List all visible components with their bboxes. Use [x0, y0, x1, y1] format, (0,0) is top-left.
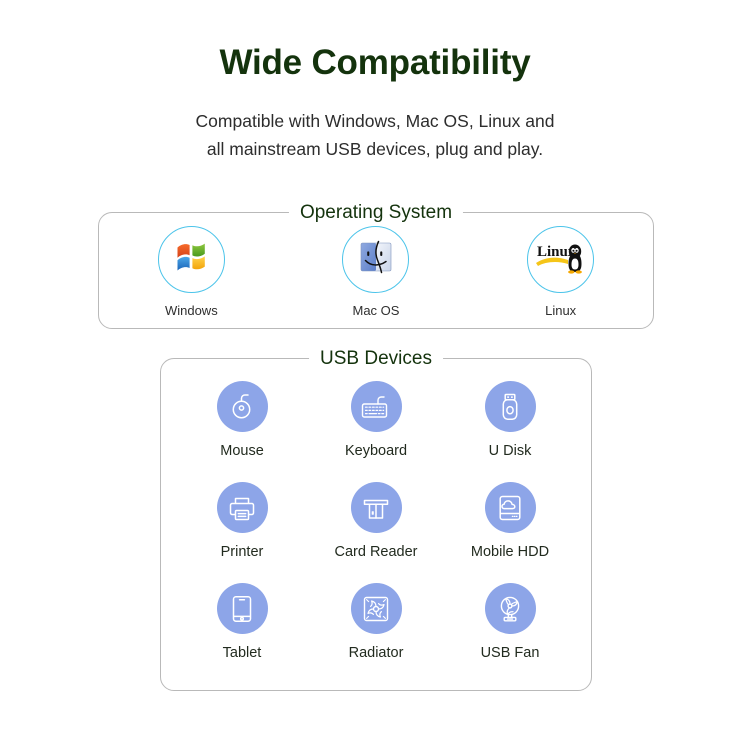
usb-item-printer[interactable]: Printer [175, 482, 309, 583]
operating-system-list: Windows [99, 226, 653, 318]
usb-item-usb-fan[interactable]: USB Fan [443, 583, 577, 684]
usb-icon-circle-radiator [351, 583, 402, 634]
os-icon-ring-windows [158, 226, 225, 293]
usb-label-usb-fan: USB Fan [481, 645, 540, 661]
usb-item-mobile-hdd[interactable]: Mobile HDD [443, 482, 577, 583]
usb-icon-circle-printer [217, 482, 268, 533]
operating-system-panel: Operating System [98, 212, 654, 329]
subtitle-line-2: all mainstream USB devices, plug and pla… [0, 135, 750, 163]
usb-icon-circle-mobile-hdd [485, 482, 536, 533]
usb-item-keyboard[interactable]: Keyboard [309, 381, 443, 482]
external-hard-drive-icon [495, 493, 525, 523]
compatibility-infographic: Wide Compatibility Compatible with Windo… [0, 0, 750, 750]
usb-label-tablet: Tablet [223, 645, 262, 661]
keyboard-icon [360, 392, 392, 422]
os-icon-ring-macos [342, 226, 409, 293]
usb-icon-circle-mouse [217, 381, 268, 432]
usb-item-mouse[interactable]: Mouse [175, 381, 309, 482]
operating-system-legend: Operating System [289, 201, 463, 225]
usb-devices-list: Mouse [175, 381, 577, 684]
usb-icon-circle-tablet [217, 583, 268, 634]
subtitle-line-1: Compatible with Windows, Mac OS, Linux a… [0, 107, 750, 135]
os-icon-ring-linux: Linux [527, 226, 594, 293]
usb-devices-legend: USB Devices [309, 347, 443, 371]
usb-label-radiator: Radiator [349, 645, 404, 661]
usb-devices-panel: USB Devices Mouse [160, 358, 592, 691]
card-reader-icon [361, 493, 391, 523]
os-item-windows[interactable]: Windows [116, 226, 266, 318]
usb-label-keyboard: Keyboard [345, 443, 407, 459]
page-subtitle: Compatible with Windows, Mac OS, Linux a… [0, 107, 750, 164]
os-label-macos: Mac OS [353, 303, 400, 318]
usb-fan-icon [495, 594, 525, 624]
usb-label-card-reader: Card Reader [334, 544, 417, 560]
usb-item-tablet[interactable]: Tablet [175, 583, 309, 684]
usb-icon-circle-keyboard [351, 381, 402, 432]
page-title: Wide Compatibility [0, 44, 750, 83]
usb-flash-drive-icon [497, 392, 523, 422]
tablet-icon [229, 594, 255, 624]
os-label-linux: Linux [545, 303, 576, 318]
usb-item-u-disk[interactable]: U Disk [443, 381, 577, 482]
mouse-icon [227, 392, 257, 422]
usb-icon-circle-card-reader [351, 482, 402, 533]
os-item-linux[interactable]: Linux [486, 226, 636, 318]
header: Wide Compatibility Compatible with Windo… [0, 0, 750, 163]
usb-label-mouse: Mouse [220, 443, 264, 459]
os-item-macos[interactable]: Mac OS [301, 226, 451, 318]
os-label-windows: Windows [165, 303, 218, 318]
mac-finder-icon [358, 239, 394, 280]
usb-icon-circle-usb-fan [485, 583, 536, 634]
usb-label-mobile-hdd: Mobile HDD [471, 544, 549, 560]
usb-item-radiator[interactable]: Radiator [309, 583, 443, 684]
radiator-fan-icon [361, 594, 391, 624]
usb-icon-circle-u-disk [485, 381, 536, 432]
windows-logo-icon [171, 237, 211, 282]
printer-icon [227, 493, 257, 523]
usb-label-u-disk: U Disk [489, 443, 532, 459]
linux-tux-icon: Linux [535, 237, 587, 282]
usb-label-printer: Printer [221, 544, 264, 560]
usb-item-card-reader[interactable]: Card Reader [309, 482, 443, 583]
